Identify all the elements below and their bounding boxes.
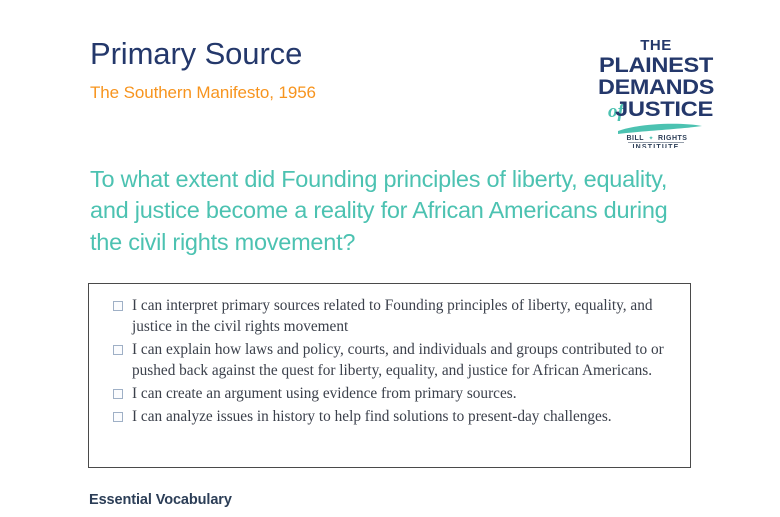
- list-item[interactable]: I can interpret primary sources related …: [113, 296, 670, 338]
- list-item[interactable]: I can explain how laws and policy, court…: [113, 340, 670, 382]
- logo-org-bill: BILL: [626, 135, 644, 142]
- logo-text-justice: JUSTICE: [615, 98, 713, 121]
- bill-of-rights-institute-logo: THE PLAINEST DEMANDS of JUSTICE BILL ✦ R…: [596, 28, 716, 148]
- objective-label: I can analyze issues in history to help …: [132, 407, 670, 428]
- essential-question: To what extent did Founding principles o…: [90, 164, 690, 258]
- list-item[interactable]: I can analyze issues in history to help …: [113, 407, 670, 428]
- list-item[interactable]: I can create an argument using evidence …: [113, 384, 670, 405]
- objective-label: I can interpret primary sources related …: [132, 296, 670, 338]
- logo-swoosh-icon: [618, 124, 702, 134]
- logo-org-name: BILL ✦ RIGHTS INSTITUTE: [626, 135, 687, 148]
- objective-label: I can explain how laws and policy, court…: [132, 340, 670, 382]
- checkbox-icon[interactable]: [113, 412, 123, 422]
- logo-text-plainest: PLAINEST: [599, 54, 714, 77]
- essential-vocabulary-heading: Essential Vocabulary: [89, 492, 232, 508]
- checkbox-icon[interactable]: [113, 345, 123, 355]
- logo-star-icon: ✦: [648, 135, 653, 142]
- objectives-list: I can interpret primary sources related …: [89, 284, 690, 428]
- logo-text-the: THE: [640, 37, 672, 54]
- logo-graphic: THE PLAINEST DEMANDS of JUSTICE BILL ✦ R…: [596, 28, 716, 148]
- checkbox-icon[interactable]: [113, 389, 123, 399]
- learning-objectives-box: I can interpret primary sources related …: [88, 283, 691, 468]
- slide-page: Primary Source The Southern Manifesto, 1…: [0, 0, 780, 517]
- objective-label: I can create an argument using evidence …: [132, 384, 670, 405]
- logo-org-institute: INSTITUTE: [633, 144, 680, 148]
- logo-text-demands: DEMANDS: [598, 76, 714, 99]
- checkbox-icon[interactable]: [113, 301, 123, 311]
- logo-org-rights: RIGHTS: [658, 135, 687, 142]
